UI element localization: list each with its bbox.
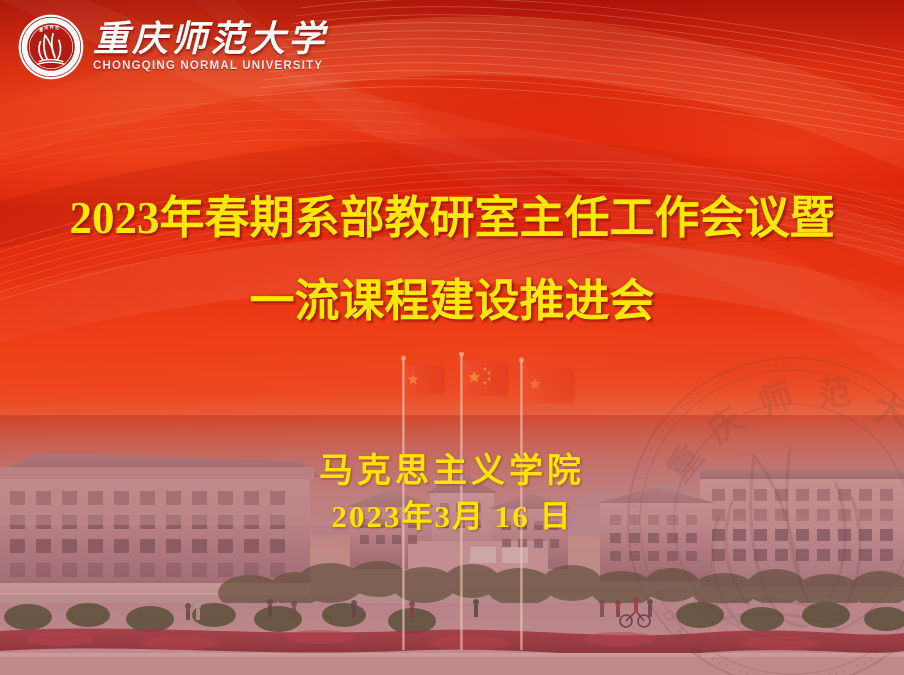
svg-text:重: 重 [39,27,43,32]
svg-text:庆: 庆 [44,25,48,30]
university-logo: C H O N S I T Y 重庆 师范 重庆师范大学 CHONGQING N… [18,14,327,80]
university-name-block: 重庆师范大学 CHONGQING NORMAL UNIVERSITY [93,21,327,74]
svg-text:师: 师 [50,25,54,30]
title-slide: .wmline { fill:none; stroke:#6b3a3a; str… [0,0,904,675]
university-name-en: CHONGQING NORMAL UNIVERSITY [93,60,327,72]
subtitle-block: 马克思主义学院 2023年3月 16 日 [0,455,904,532]
title-block: 2023年春期系部教研室主任工作会议暨 一流课程建设推进会 [0,196,904,324]
svg-text:范: 范 [55,25,59,30]
title-line-1: 2023年春期系部教研室主任工作会议暨 [0,196,904,241]
red-gradient-background [0,0,904,675]
presentation-date: 2023年3月 16 日 [0,501,904,532]
university-seal-icon: C H O N S I T Y 重庆 师范 [18,14,84,80]
organization-name: 马克思主义学院 [0,455,904,489]
university-name-cn: 重庆师范大学 [93,21,327,57]
title-line-2: 一流课程建设推进会 [0,279,904,324]
